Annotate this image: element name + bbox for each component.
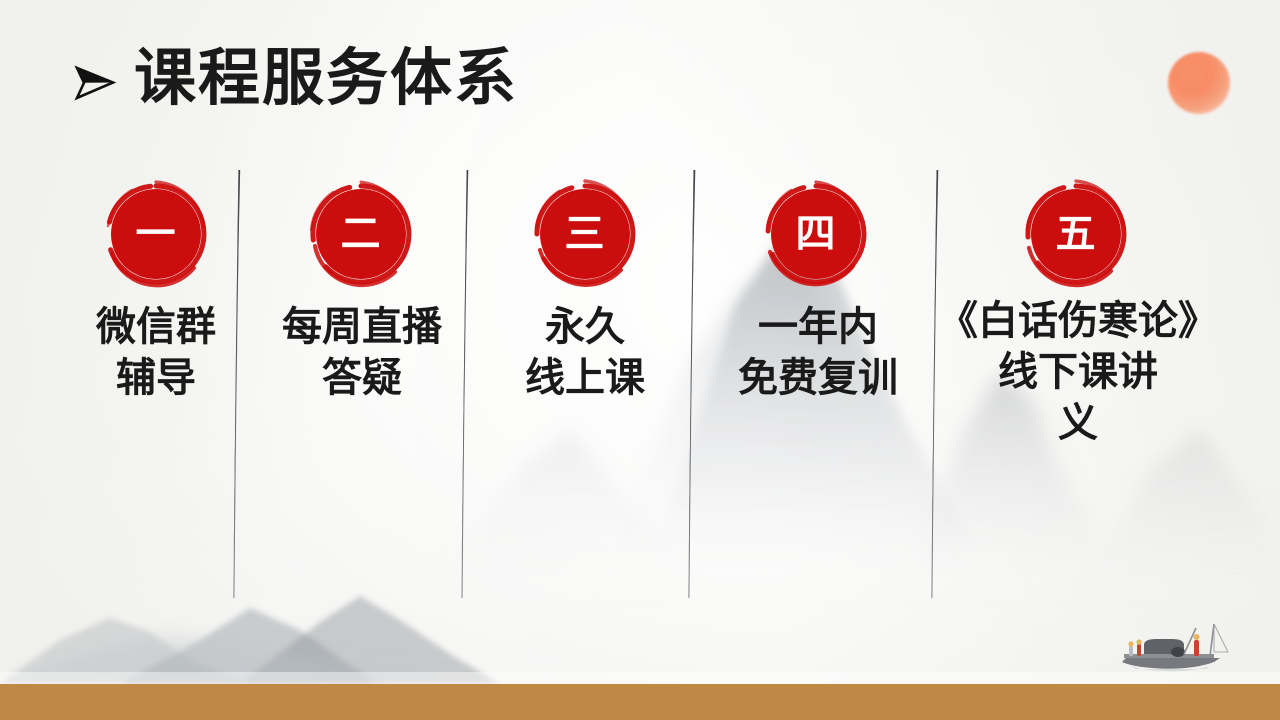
badge-number: 二	[341, 214, 382, 254]
service-column-3: 三 永久 线上课	[485, 176, 685, 404]
badge-number: 五	[1056, 214, 1097, 254]
brush-circle-icon: 三	[527, 176, 643, 292]
service-column-1: 一 微信群 辅导	[56, 176, 256, 404]
badge-number: 一	[136, 214, 177, 254]
page-title: 课程服务体系	[72, 48, 518, 110]
service-label: 一年内 免费复训	[738, 302, 898, 404]
arrow-bullet-icon	[72, 60, 118, 106]
service-column-2: 二 每周直播 答疑	[262, 176, 462, 404]
brush-circle-icon: 二	[303, 176, 419, 292]
badge-number: 三	[565, 214, 606, 254]
bottom-accent-bar	[0, 684, 1280, 720]
slide-canvas: 课程服务体系	[0, 0, 1280, 720]
brush-circle-icon: 一	[98, 176, 214, 292]
sun-icon	[1168, 52, 1230, 114]
service-label: 《白话伤寒论》 线下课讲 义	[938, 296, 1218, 450]
service-column-4: 四 一年内 免费复训	[712, 176, 924, 404]
river-boat-icon	[1110, 618, 1240, 680]
page-title-text: 课程服务体系	[134, 48, 518, 110]
service-label: 永久 线上课	[525, 302, 645, 404]
badge-number: 四	[796, 214, 837, 254]
service-label: 每周直播 答疑	[282, 302, 442, 404]
service-column-5: 五 《白话伤寒论》 线下课讲 义	[928, 176, 1228, 450]
brush-circle-icon: 五	[1018, 176, 1134, 292]
service-columns: 一 微信群 辅导 二 每周直播 答疑	[0, 176, 1280, 596]
brush-circle-icon: 四	[758, 176, 874, 292]
service-label: 微信群 辅导	[96, 302, 216, 404]
